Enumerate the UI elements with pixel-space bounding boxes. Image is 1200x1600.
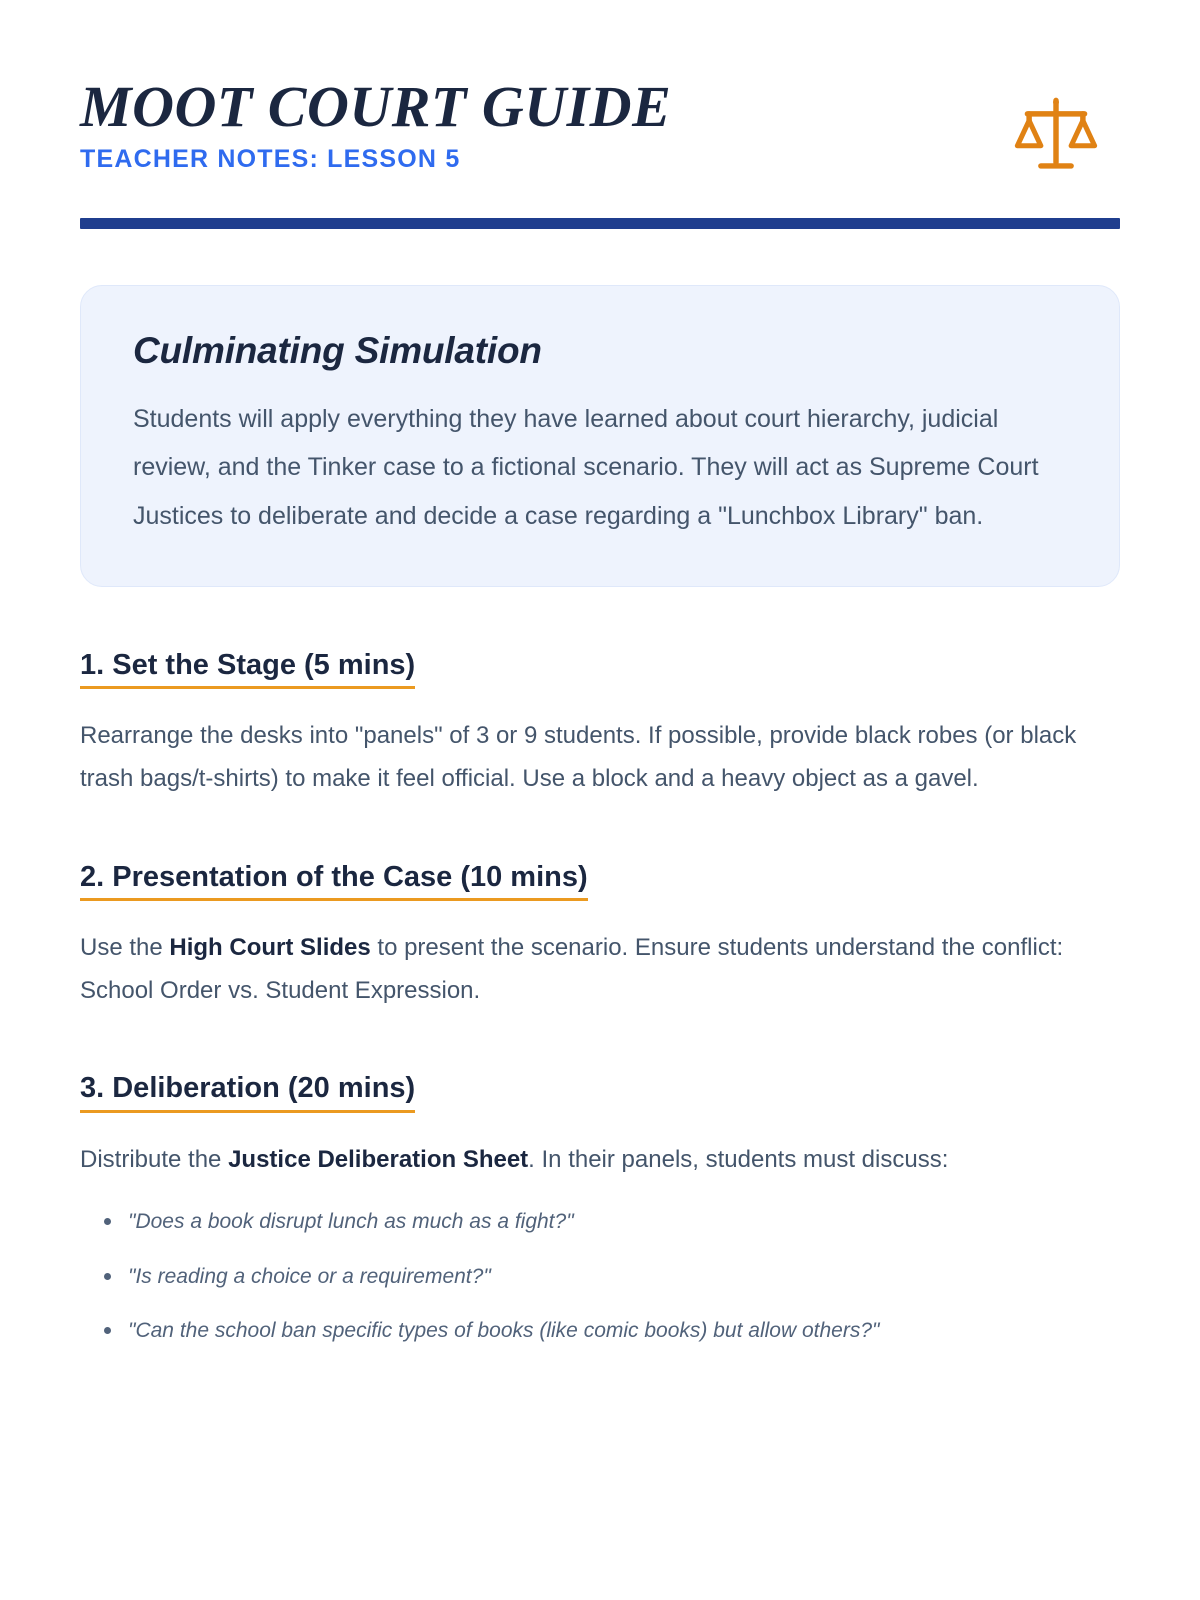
callout-body: Students will apply everything they have… [133, 395, 1063, 541]
list-item: "Can the school ban specific types of bo… [80, 1316, 1120, 1346]
header-divider-rule [80, 218, 1120, 229]
emphasis-text: High Court Slides [169, 934, 370, 961]
callout-title: Culminating Simulation [133, 330, 1067, 373]
emphasis-text: Justice Deliberation Sheet [228, 1146, 528, 1173]
section-heading: 1. Set the Stage (5 mins) [80, 647, 415, 689]
sections-container: 1. Set the Stage (5 mins) Rearrange the … [80, 647, 1120, 1347]
list-item: "Does a book disrupt lunch as much as a … [80, 1207, 1120, 1237]
callout-box: Culminating Simulation Students will app… [80, 285, 1120, 587]
header-text-block: MOOT COURT GUIDE TEACHER NOTES: LESSON 5 [80, 78, 1014, 174]
section-body: Rearrange the desks into "panels" of 3 o… [80, 715, 1120, 800]
section-presentation-of-the-case: 2. Presentation of the Case (10 mins) Us… [80, 859, 1120, 1013]
list-item: "Is reading a choice or a requirement?" [80, 1262, 1120, 1292]
section-set-the-stage: 1. Set the Stage (5 mins) Rearrange the … [80, 647, 1120, 801]
section-body: Use the High Court Slides to present the… [80, 927, 1120, 1012]
page-title: MOOT COURT GUIDE [80, 78, 1014, 136]
section-body: Distribute the Justice Deliberation Shee… [80, 1139, 1120, 1182]
page-subtitle: TEACHER NOTES: LESSON 5 [80, 146, 1014, 174]
section-heading: 3. Deliberation (20 mins) [80, 1070, 415, 1112]
section-deliberation: 3. Deliberation (20 mins) Distribute the… [80, 1070, 1120, 1346]
section-heading: 2. Presentation of the Case (10 mins) [80, 859, 588, 901]
document-header: MOOT COURT GUIDE TEACHER NOTES: LESSON 5 [80, 0, 1120, 176]
deliberation-question-list: "Does a book disrupt lunch as much as a … [80, 1207, 1120, 1346]
scales-of-justice-icon [1014, 92, 1098, 176]
document-page: MOOT COURT GUIDE TEACHER NOTES: LESSON 5 [0, 0, 1200, 1600]
